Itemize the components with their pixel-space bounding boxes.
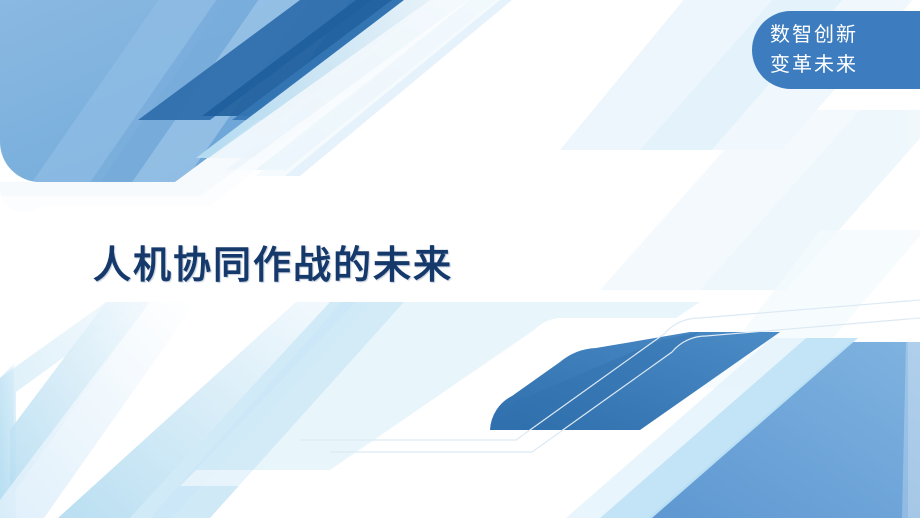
slide-canvas: 数智创新 变革未来 人机协同作战的未来 [0, 0, 920, 518]
badge-line-1: 数智创新 [770, 20, 858, 50]
corner-badge: 数智创新 变革未来 [752, 11, 920, 89]
page-title: 人机协同作战的未来 [93, 234, 453, 289]
badge-line-2: 变革未来 [770, 50, 858, 80]
